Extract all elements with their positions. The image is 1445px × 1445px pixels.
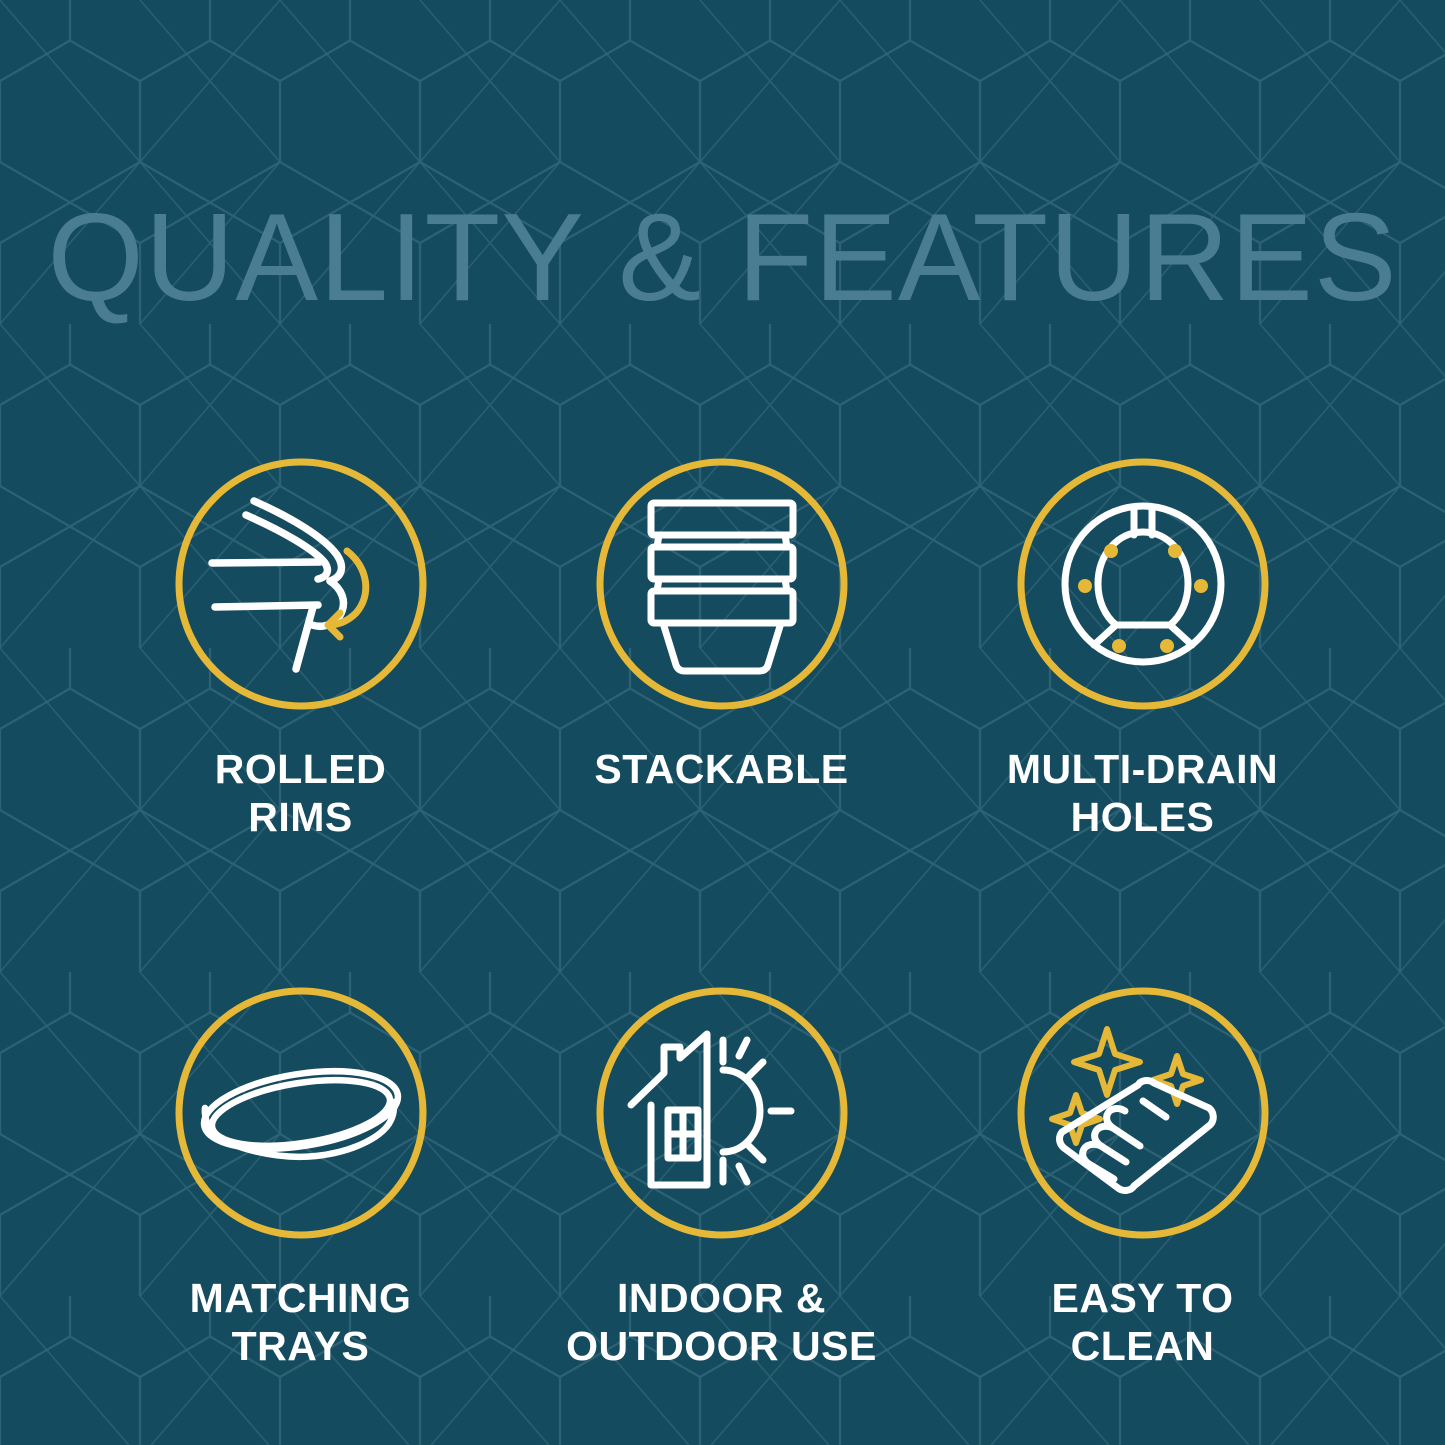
feature-label-line-2: RIMS: [215, 793, 387, 841]
feature-label: STACKABLE: [594, 745, 848, 793]
feature-row-bottom: MATCHING TRAYS: [0, 984, 1445, 1371]
feature-item-multi-drain-holes[interactable]: MULTI-DRAIN HOLES: [932, 455, 1353, 842]
feature-item-stackable[interactable]: STACKABLE: [511, 455, 932, 842]
drain-holes-icon: [1014, 455, 1272, 713]
feature-row-top: ROLLED RIMS: [0, 455, 1445, 842]
feature-label: INDOOR & OUTDOOR USE: [566, 1274, 877, 1371]
feature-label-line-1: INDOOR &: [617, 1275, 826, 1321]
feature-label-line-1: ROLLED: [215, 746, 387, 792]
feature-label-line-2: CLEAN: [1052, 1322, 1234, 1370]
feature-label-line-2: HOLES: [1007, 793, 1278, 841]
feature-item-matching-trays[interactable]: MATCHING TRAYS: [90, 984, 511, 1371]
rolled-rim-icon: [172, 455, 430, 713]
feature-label: EASY TO CLEAN: [1052, 1274, 1234, 1371]
stacked-pots-icon: [593, 455, 851, 713]
feature-label-line-1: MATCHING: [190, 1275, 412, 1321]
feature-label-line-2: TRAYS: [190, 1322, 412, 1370]
feature-item-rolled-rims[interactable]: ROLLED RIMS: [90, 455, 511, 842]
feature-grid: ROLLED RIMS: [0, 455, 1445, 1371]
feature-label-line-1: MULTI-DRAIN: [1007, 746, 1278, 792]
feature-label-line-1: EASY TO: [1052, 1275, 1234, 1321]
feature-item-easy-to-clean[interactable]: EASY TO CLEAN: [932, 984, 1353, 1371]
feature-label-line-2: OUTDOOR USE: [566, 1322, 877, 1370]
feature-label: ROLLED RIMS: [215, 745, 387, 842]
oval-tray-icon: [172, 984, 430, 1242]
feature-label: MATCHING TRAYS: [190, 1274, 412, 1371]
hand-wiping-sparkle-icon: [1014, 984, 1272, 1242]
house-sun-icon: [593, 984, 851, 1242]
feature-item-indoor-outdoor[interactable]: INDOOR & OUTDOOR USE: [511, 984, 932, 1371]
feature-infographic: QUALITY & FEATURES: [0, 0, 1445, 1445]
feature-label-line-1: STACKABLE: [594, 746, 848, 792]
feature-label: MULTI-DRAIN HOLES: [1007, 745, 1278, 842]
page-title: QUALITY & FEATURES: [0, 196, 1445, 320]
